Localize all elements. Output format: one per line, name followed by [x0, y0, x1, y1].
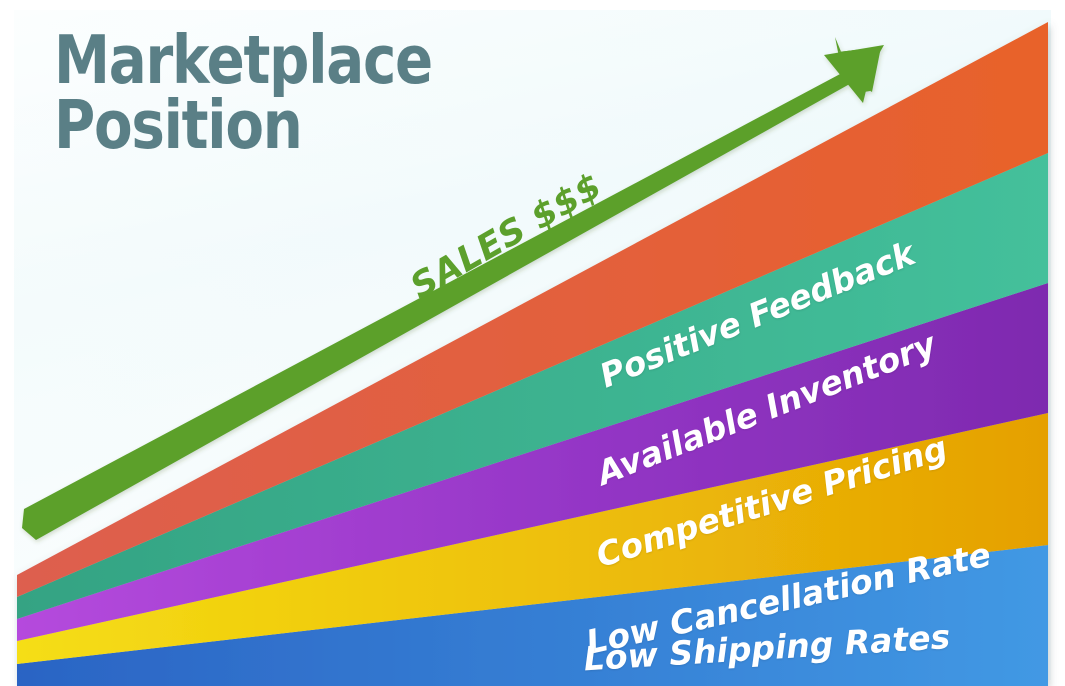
- page-title: Marketplace Position: [54, 28, 491, 158]
- infographic-canvas: Marketplace Position SALES $$$ Positive …: [0, 0, 1065, 686]
